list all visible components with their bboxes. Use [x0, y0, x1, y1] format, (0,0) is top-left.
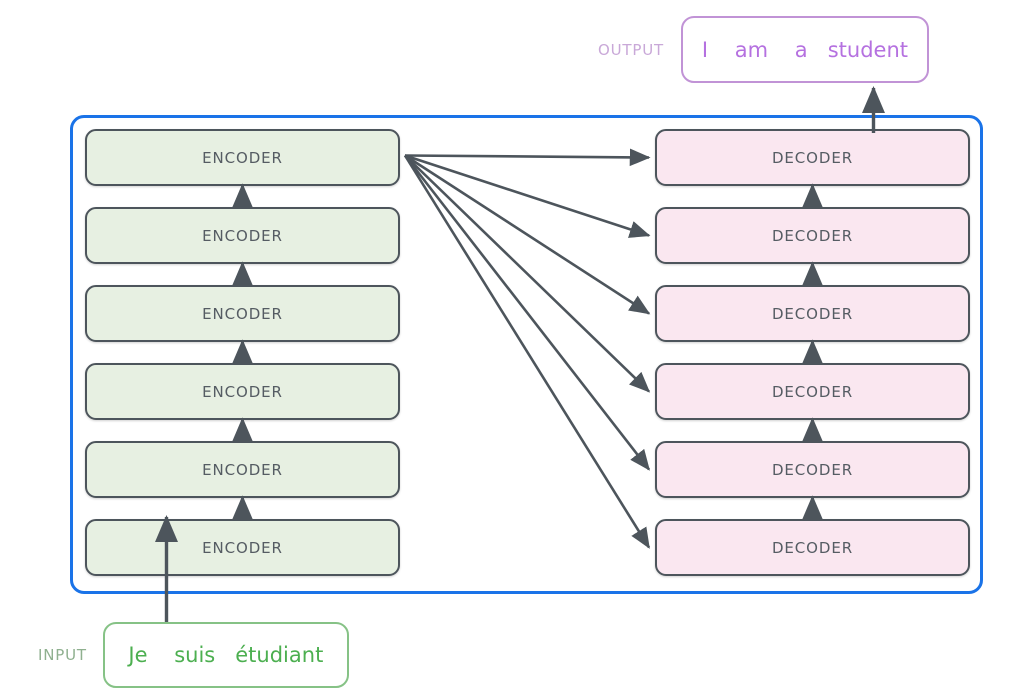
encoder-block-1[interactable]: ENCODER	[85, 129, 400, 186]
encoder-block-label: ENCODER	[202, 383, 283, 401]
output-text: I am a student	[702, 38, 908, 62]
encoder-block-label: ENCODER	[202, 227, 283, 245]
decoder-block-4[interactable]: DECODER	[655, 363, 970, 420]
decoder-block-label: DECODER	[772, 383, 853, 401]
decoder-block-6[interactable]: DECODER	[655, 519, 970, 576]
diagram-canvas: ENCODERENCODERENCODERENCODERENCODERENCOD…	[0, 0, 1012, 700]
decoder-block-3[interactable]: DECODER	[655, 285, 970, 342]
decoder-block-label: DECODER	[772, 461, 853, 479]
output-label: OUTPUT	[598, 41, 664, 59]
output-row: OUTPUT I am a student	[598, 16, 929, 83]
decoder-block-label: DECODER	[772, 305, 853, 323]
encoder-block-label: ENCODER	[202, 461, 283, 479]
encoder-block-6[interactable]: ENCODER	[85, 519, 400, 576]
encoder-block-label: ENCODER	[202, 149, 283, 167]
input-label: INPUT	[38, 646, 87, 664]
decoder-block-label: DECODER	[772, 149, 853, 167]
input-text: Je suis étudiant	[128, 643, 323, 667]
encoder-block-3[interactable]: ENCODER	[85, 285, 400, 342]
encoder-block-2[interactable]: ENCODER	[85, 207, 400, 264]
output-box[interactable]: I am a student	[681, 16, 929, 83]
decoder-block-label: DECODER	[772, 227, 853, 245]
encoder-block-label: ENCODER	[202, 539, 283, 557]
encoder-block-label: ENCODER	[202, 305, 283, 323]
input-box[interactable]: Je suis étudiant	[103, 622, 349, 688]
encoder-block-4[interactable]: ENCODER	[85, 363, 400, 420]
decoder-block-2[interactable]: DECODER	[655, 207, 970, 264]
decoder-block-label: DECODER	[772, 539, 853, 557]
decoder-block-1[interactable]: DECODER	[655, 129, 970, 186]
decoder-block-5[interactable]: DECODER	[655, 441, 970, 498]
input-row: INPUT Je suis étudiant	[38, 622, 349, 688]
encoder-block-5[interactable]: ENCODER	[85, 441, 400, 498]
